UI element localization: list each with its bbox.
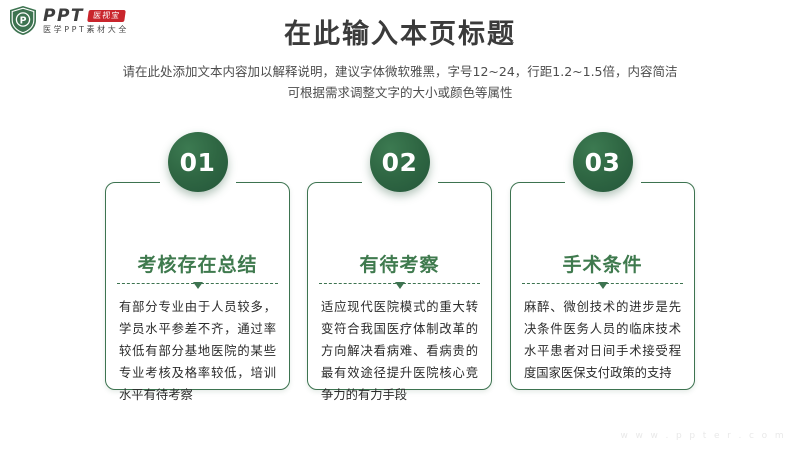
info-card[interactable]: 01 考核存在总结 有部分专业由于人员较多，学员水平参差不齐，通过率较低有部分基… xyxy=(105,132,290,394)
card-body-text: 麻醉、微创技术的进步是先决条件医务人员的临床技术水平患者对日间手术接受程度国家医… xyxy=(524,297,681,385)
card-number-badge: 03 xyxy=(573,132,633,192)
card-divider xyxy=(522,280,683,290)
card-heading: 考核存在总结 xyxy=(105,250,290,277)
divider-triangle-icon xyxy=(193,282,203,289)
card-heading: 手术条件 xyxy=(510,250,695,277)
card-body-text: 有部分专业由于人员较多，学员水平参差不齐，通过率较低有部分基地医院的某些专业考核… xyxy=(119,297,276,406)
card-number-badge: 01 xyxy=(168,132,228,192)
divider-triangle-icon xyxy=(395,282,405,289)
card-number: 01 xyxy=(180,150,216,175)
card-group: 01 考核存在总结 有部分专业由于人员较多，学员水平参差不齐，通过率较低有部分基… xyxy=(0,0,800,450)
divider-triangle-icon xyxy=(598,282,608,289)
card-divider xyxy=(117,280,278,290)
info-card[interactable]: 02 有待考察 适应现代医院模式的重大转变符合我国医疗体制改革的方向解决看病难、… xyxy=(307,132,492,394)
site-watermark: w w w . p p t e r . c o m xyxy=(620,431,786,441)
info-card[interactable]: 03 手术条件 麻醉、微创技术的进步是先决条件医务人员的临床技术水平患者对日间手… xyxy=(510,132,695,394)
card-body-text: 适应现代医院模式的重大转变符合我国医疗体制改革的方向解决看病难、看病贵的最有效途… xyxy=(321,297,478,406)
card-heading: 有待考察 xyxy=(307,250,492,277)
card-divider xyxy=(319,280,480,290)
card-number-badge: 02 xyxy=(370,132,430,192)
card-number: 02 xyxy=(382,150,418,175)
card-number: 03 xyxy=(585,150,621,175)
